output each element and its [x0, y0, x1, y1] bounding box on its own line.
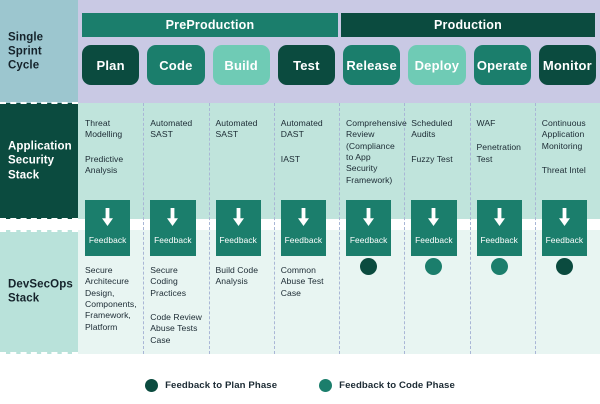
devsecops-cell-item: SecureArchitecureDesign,Components,Frame…	[85, 265, 138, 333]
column-divider	[535, 103, 536, 354]
legend-label: Feedback to Plan Phase	[165, 380, 277, 391]
down-arrow-icon	[100, 208, 115, 232]
feedback-box-deploy[interactable]: Feedback	[411, 200, 456, 256]
row-divider-dashed	[0, 352, 78, 354]
stage-pill-code[interactable]: Code	[147, 45, 204, 85]
row-label-text: SingleSprintCycle	[8, 30, 43, 73]
row-divider-dashed	[0, 218, 78, 220]
feedback-box-label: Feedback	[89, 235, 127, 245]
feedback-box-code[interactable]: Feedback	[150, 200, 195, 256]
appsec-cell-operate: WAFPenetrationTest	[477, 118, 530, 165]
feedback-box-operate[interactable]: Feedback	[477, 200, 522, 256]
down-arrow-icon	[492, 208, 507, 232]
stage-pill-label: Operate	[477, 58, 528, 73]
appsec-cell-item: IAST	[281, 154, 334, 165]
feedback-box-build[interactable]: Feedback	[216, 200, 261, 256]
column-divider	[339, 103, 340, 354]
phase-bar-preproduction: PreProduction	[82, 13, 338, 37]
row-label-text: DevSecOpsStack	[8, 278, 73, 307]
stage-pill-operate[interactable]: Operate	[474, 45, 531, 85]
column-divider	[274, 103, 275, 354]
stage-pill-label: Build	[224, 58, 258, 73]
appsec-cell-test: AutomatedDASTIAST	[281, 118, 334, 165]
feedback-box-label: Feedback	[219, 235, 257, 245]
devsecops-cell-item: CommonAbuse TestCase	[281, 265, 334, 299]
appsec-cell-code: AutomatedSAST	[150, 118, 203, 141]
column-divider	[470, 103, 471, 354]
feedback-box-label: Feedback	[480, 235, 518, 245]
down-arrow-icon	[557, 208, 572, 232]
devsecops-cell-item: Build CodeAnalysis	[216, 265, 269, 288]
stage-pill-build[interactable]: Build	[213, 45, 270, 85]
appsec-cell-item: ContinuousApplicationMonitoring	[542, 118, 595, 152]
stage-pill-label: Monitor	[543, 58, 592, 73]
feedback-box-label: Feedback	[546, 235, 584, 245]
devsecops-cell-code: SecureCodingPracticesCode ReviewAbuse Te…	[150, 265, 203, 346]
devsecops-cell-build: Build CodeAnalysis	[216, 265, 269, 288]
appsec-cell-item: ScheduledAudits	[411, 118, 464, 141]
phase-label: Production	[434, 18, 502, 32]
devsecops-sprint-diagram: SingleSprintCycle ApplicationSecuritySta…	[0, 0, 600, 404]
appsec-cell-item: PredictiveAnalysis	[85, 154, 138, 177]
appsec-cell-item: AutomatedDAST	[281, 118, 334, 141]
appsec-cell-plan: ThreatModellingPredictiveAnalysis	[85, 118, 138, 176]
legend-item-feedback-to-code-phase: Feedback to Code Phase	[319, 379, 455, 392]
stage-pill-plan[interactable]: Plan	[82, 45, 139, 85]
feedback-box-label: Feedback	[154, 235, 192, 245]
feedback-box-label: Feedback	[415, 235, 453, 245]
appsec-cell-item: PenetrationTest	[477, 142, 530, 165]
legend-dot-icon	[319, 379, 332, 392]
devsecops-cell-plan: SecureArchitecureDesign,Components,Frame…	[85, 265, 138, 333]
column-divider	[143, 103, 144, 354]
down-arrow-icon	[426, 208, 441, 232]
appsec-cell-item: AutomatedSAST	[150, 118, 203, 141]
feedback-box-test[interactable]: Feedback	[281, 200, 326, 256]
stage-pill-label: Plan	[96, 58, 124, 73]
feedback-box-monitor[interactable]: Feedback	[542, 200, 587, 256]
stage-pill-label: Deploy	[415, 58, 460, 73]
row-label-application-security-stack: ApplicationSecurityStack	[0, 103, 78, 219]
down-arrow-icon	[296, 208, 311, 232]
row-label-text: ApplicationSecurityStack	[8, 139, 72, 182]
feedback-box-release[interactable]: Feedback	[346, 200, 391, 256]
feedback-dot-monitor-to-plan	[556, 258, 573, 275]
feedback-dot-release-to-plan	[360, 258, 377, 275]
column-divider	[404, 103, 405, 354]
appsec-cell-deploy: ScheduledAuditsFuzzy Test	[411, 118, 464, 165]
stage-pill-label: Code	[159, 58, 192, 73]
feedback-box-plan[interactable]: Feedback	[85, 200, 130, 256]
phase-bar-production: Production	[341, 13, 595, 37]
legend: Feedback to Plan PhaseFeedback to Code P…	[0, 366, 600, 404]
feedback-box-label: Feedback	[285, 235, 323, 245]
appsec-cell-item: AutomatedSAST	[216, 118, 269, 141]
feedback-box-label: Feedback	[350, 235, 388, 245]
stage-pill-test[interactable]: Test	[278, 45, 335, 85]
devsecops-cell-test: CommonAbuse TestCase	[281, 265, 334, 299]
row-label-single-sprint-cycle: SingleSprintCycle	[0, 0, 78, 103]
stage-pill-label: Release	[346, 58, 397, 73]
devsecops-cell-item: Code ReviewAbuse TestsCase	[150, 312, 203, 346]
appsec-cell-monitor: ContinuousApplicationMonitoringThreat In…	[542, 118, 595, 176]
phase-label: PreProduction	[166, 18, 255, 32]
stage-pill-release[interactable]: Release	[343, 45, 400, 85]
appsec-cell-item: Threat Intel	[542, 165, 595, 176]
row-divider-dashed	[0, 230, 78, 232]
down-arrow-icon	[231, 208, 246, 232]
appsec-cell-item: ComprehensiveReview(Complianceto AppSecu…	[346, 118, 399, 186]
stage-pill-label: Test	[293, 58, 320, 73]
appsec-cell-release: ComprehensiveReview(Complianceto AppSecu…	[346, 118, 399, 186]
legend-label: Feedback to Code Phase	[339, 380, 455, 391]
feedback-dot-operate-to-code	[491, 258, 508, 275]
stage-pill-monitor[interactable]: Monitor	[539, 45, 596, 85]
column-divider	[209, 103, 210, 354]
appsec-cell-item: ThreatModelling	[85, 118, 138, 141]
devsecops-cell-item: SecureCodingPractices	[150, 265, 203, 299]
row-divider-dashed	[0, 102, 78, 104]
legend-dot-icon	[145, 379, 158, 392]
appsec-cell-item: Fuzzy Test	[411, 154, 464, 165]
row-label-devsecops-stack: DevSecOpsStack	[0, 230, 78, 354]
appsec-cell-build: AutomatedSAST	[216, 118, 269, 141]
stage-pill-deploy[interactable]: Deploy	[408, 45, 465, 85]
down-arrow-icon	[165, 208, 180, 232]
appsec-cell-item: WAF	[477, 118, 530, 129]
down-arrow-icon	[361, 208, 376, 232]
legend-item-feedback-to-plan-phase: Feedback to Plan Phase	[145, 379, 277, 392]
